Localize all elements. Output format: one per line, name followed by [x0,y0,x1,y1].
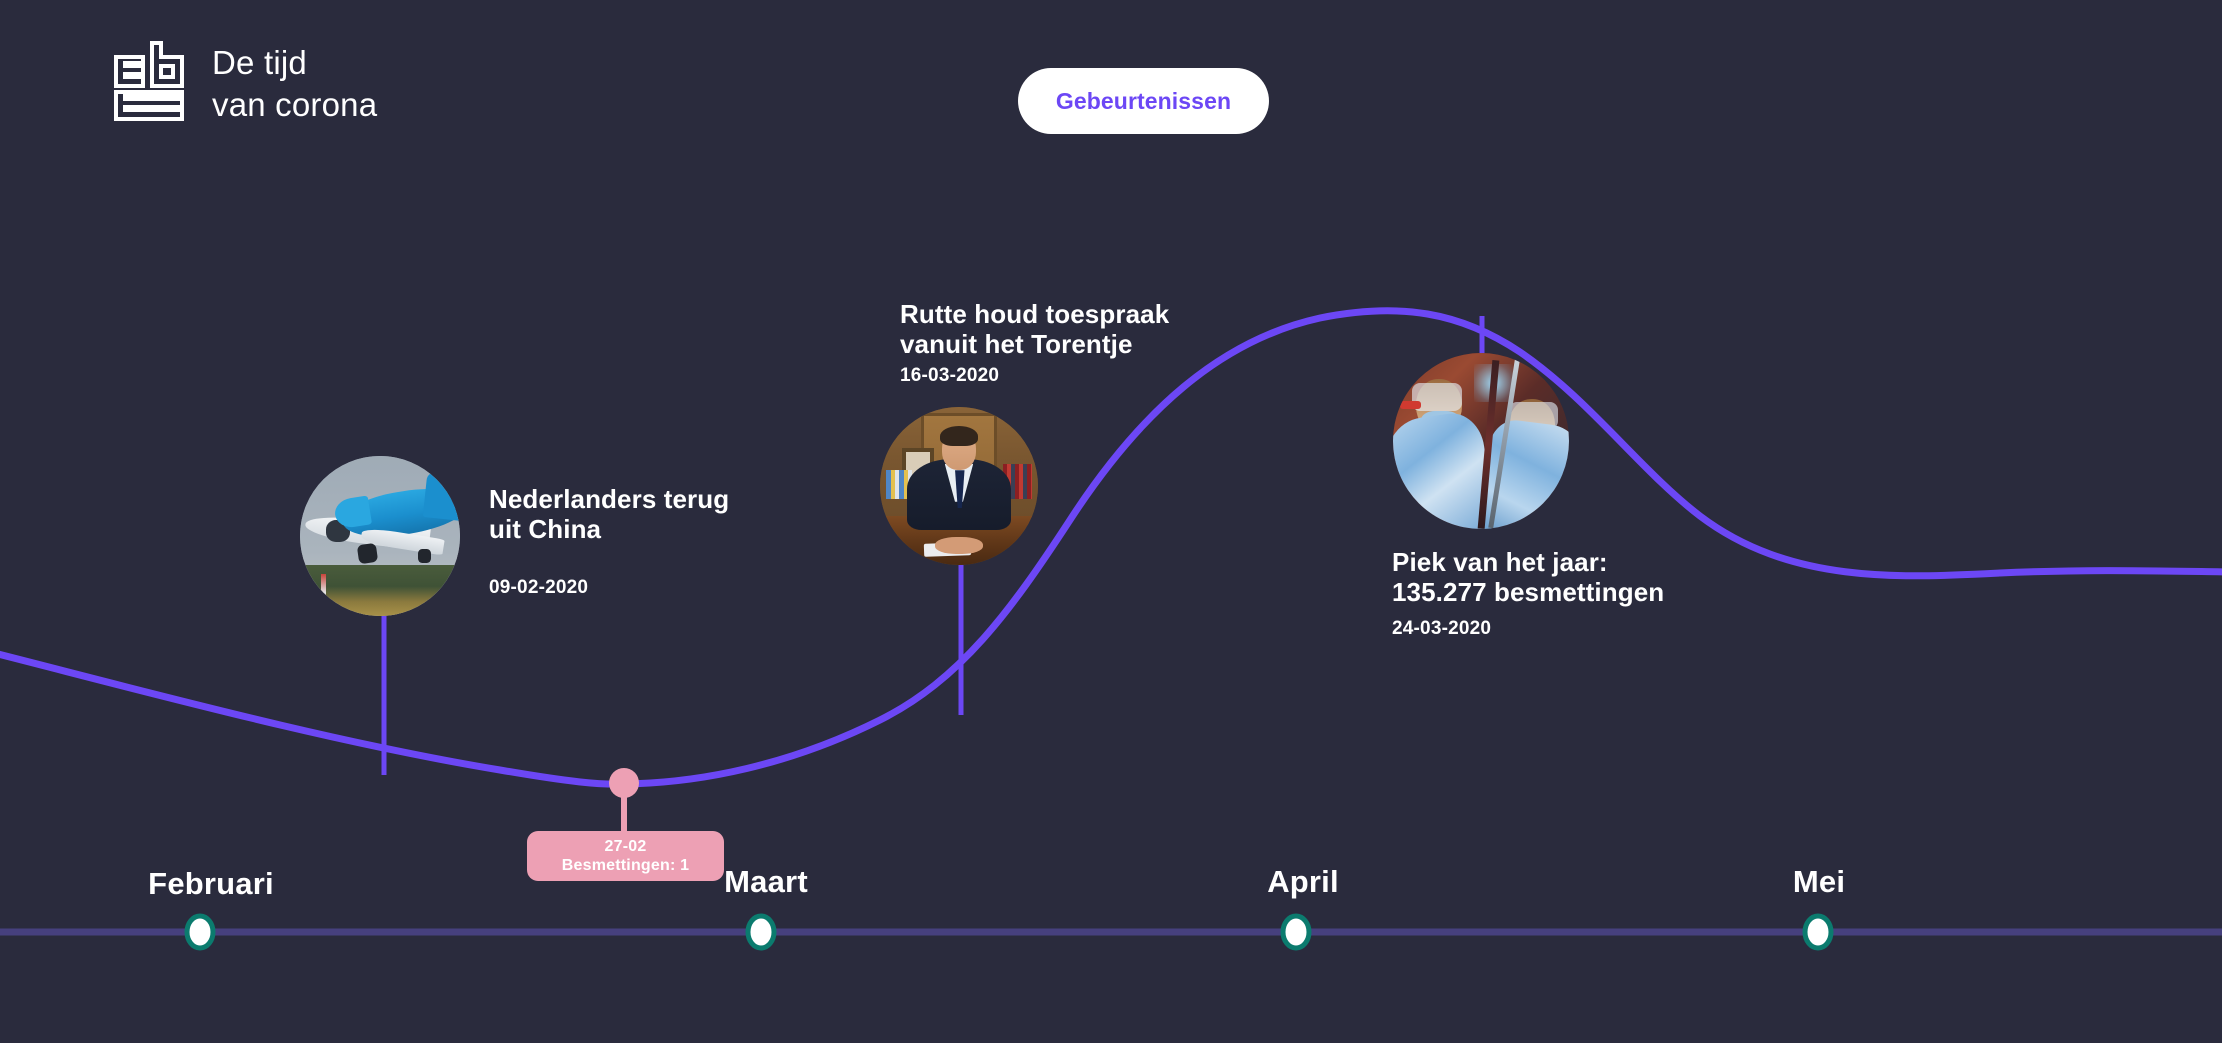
tooltip-data-point[interactable] [609,768,639,798]
corona-timeline-page: De tijd van corona Gebeurtenissen Februa… [0,0,2222,1043]
month-label-maart: Maart [724,864,808,900]
annotation-title: Nederlanders terug uit China [489,484,729,544]
annotation-title: Rutte houd toespraak vanuit het Torentje [900,299,1169,359]
annotation-rutte-toespraak-torentje: Rutte houd toespraak vanuit het Torentje… [900,299,1169,387]
month-marker-februari[interactable] [187,916,213,948]
annotation-piek-van-het-jaar: Piek van het jaar: 135.277 besmettingen … [1392,547,1664,640]
klm-airplane-photo[interactable] [300,456,460,616]
month-marker-maart[interactable] [748,916,774,948]
annotation-title: Piek van het jaar: 135.277 besmettingen [1392,547,1664,607]
month-label-april: April [1267,864,1339,900]
month-marker-april[interactable] [1283,916,1309,948]
annotation-nederlanders-terug-uit-china: Nederlanders terug uit China 09-02-2020 [489,484,729,599]
annotation-date: 16-03-2020 [900,365,1169,387]
month-label-februari: Februari [148,866,274,902]
month-label-mei: Mei [1793,864,1845,900]
annotation-date: 09-02-2020 [489,577,729,599]
tooltip-besmettingen[interactable]: 27-02 Besmettingen: 1 [527,831,724,881]
tooltip-date: 27-02 [605,838,647,856]
annotation-date: 24-03-2020 [1392,618,1664,640]
icu-medical-staff-photo[interactable] [1393,353,1569,529]
mark-rutte-speech-photo[interactable] [880,407,1038,565]
tooltip-value: Besmettingen: 1 [562,857,689,875]
month-marker-mei[interactable] [1805,916,1831,948]
